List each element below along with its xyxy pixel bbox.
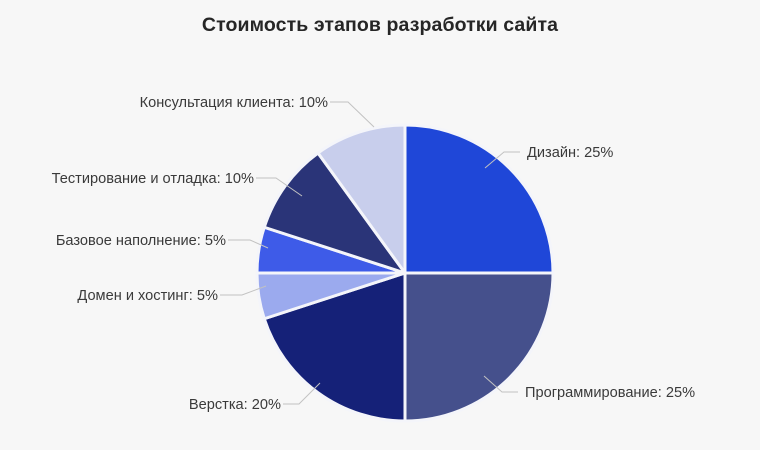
pie-label-domain-hosting: Домен и хостинг: 5% bbox=[77, 288, 218, 304]
pie-chart-canvas bbox=[0, 0, 760, 450]
pie-chart-figure: Стоимость этапов разработки сайта bbox=[0, 0, 760, 450]
pie-slices bbox=[257, 125, 553, 421]
pie-label-layout: Верстка: 20% bbox=[189, 397, 281, 413]
pie-label-design: Дизайн: 25% bbox=[527, 145, 613, 161]
pie-label-consultation: Консультация клиента: 10% bbox=[140, 95, 328, 111]
pie-label-testing: Тестирование и отладка: 10% bbox=[52, 171, 254, 187]
pie-label-base-content: Базовое наполнение: 5% bbox=[56, 233, 226, 249]
leader-line-consultation bbox=[330, 102, 374, 127]
pie-label-programming: Программирование: 25% bbox=[525, 385, 695, 401]
